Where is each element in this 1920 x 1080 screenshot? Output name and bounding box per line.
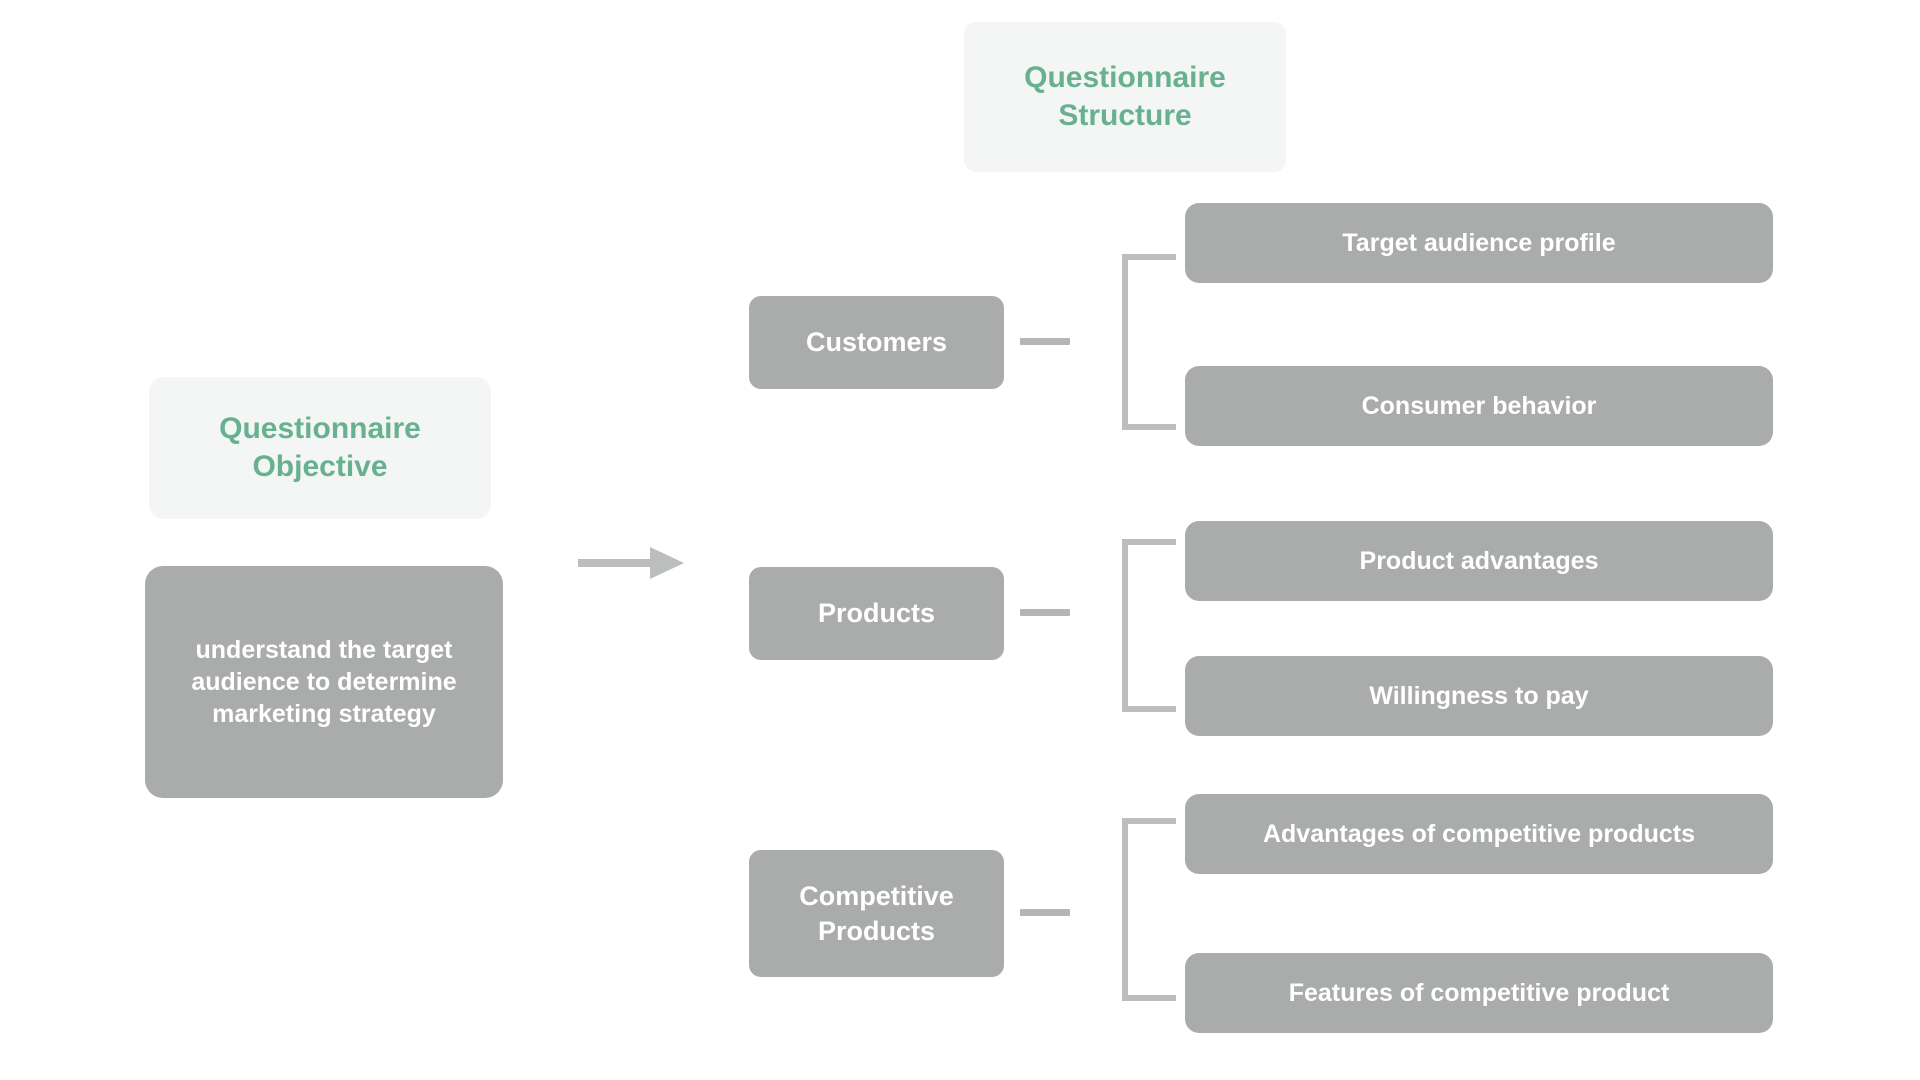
objective-title-label: Questionnaire Objective: [149, 410, 491, 487]
arrow-right-icon: [578, 540, 684, 586]
connector-bracket-customers: [1122, 254, 1176, 430]
category-box-customers[interactable]: Customers: [749, 296, 1004, 389]
objective-description-box: understand the target audience to determ…: [145, 566, 503, 798]
leaf-box-features-of-competitive-product[interactable]: Features of competitive product: [1185, 953, 1773, 1033]
leaf-box-consumer-behavior[interactable]: Consumer behavior: [1185, 366, 1773, 446]
connector-dash-competitive-products: [1020, 909, 1070, 916]
leaf-label-advantages-of-competitive-products: Advantages of competitive products: [1199, 818, 1759, 850]
objective-description-label: understand the target audience to determ…: [163, 634, 485, 730]
connector-bracket-products: [1122, 539, 1176, 712]
connector-dash-products: [1020, 609, 1070, 616]
category-label-products: Products: [749, 596, 1004, 631]
leaf-label-features-of-competitive-product: Features of competitive product: [1199, 977, 1759, 1009]
leaf-box-advantages-of-competitive-products[interactable]: Advantages of competitive products: [1185, 794, 1773, 874]
diagram-canvas: Questionnaire Structure Questionnaire Ob…: [0, 0, 1920, 1080]
connector-dash-customers: [1020, 338, 1070, 345]
leaf-label-willingness-to-pay: Willingness to pay: [1199, 680, 1759, 712]
leaf-label-target-audience-profile: Target audience profile: [1199, 227, 1759, 259]
structure-title-box: Questionnaire Structure: [964, 22, 1286, 172]
category-box-competitive-products[interactable]: Competitive Products: [749, 850, 1004, 977]
leaf-box-willingness-to-pay[interactable]: Willingness to pay: [1185, 656, 1773, 736]
leaf-label-consumer-behavior: Consumer behavior: [1199, 390, 1759, 422]
leaf-box-target-audience-profile[interactable]: Target audience profile: [1185, 203, 1773, 283]
leaf-label-product-advantages: Product advantages: [1199, 545, 1759, 577]
structure-title-label: Questionnaire Structure: [964, 59, 1286, 136]
connector-bracket-competitive-products: [1122, 818, 1176, 1001]
objective-title-box: Questionnaire Objective: [149, 377, 491, 519]
leaf-box-product-advantages[interactable]: Product advantages: [1185, 521, 1773, 601]
category-label-competitive-products: Competitive Products: [749, 879, 1004, 948]
category-label-customers: Customers: [749, 325, 1004, 360]
category-box-products[interactable]: Products: [749, 567, 1004, 660]
